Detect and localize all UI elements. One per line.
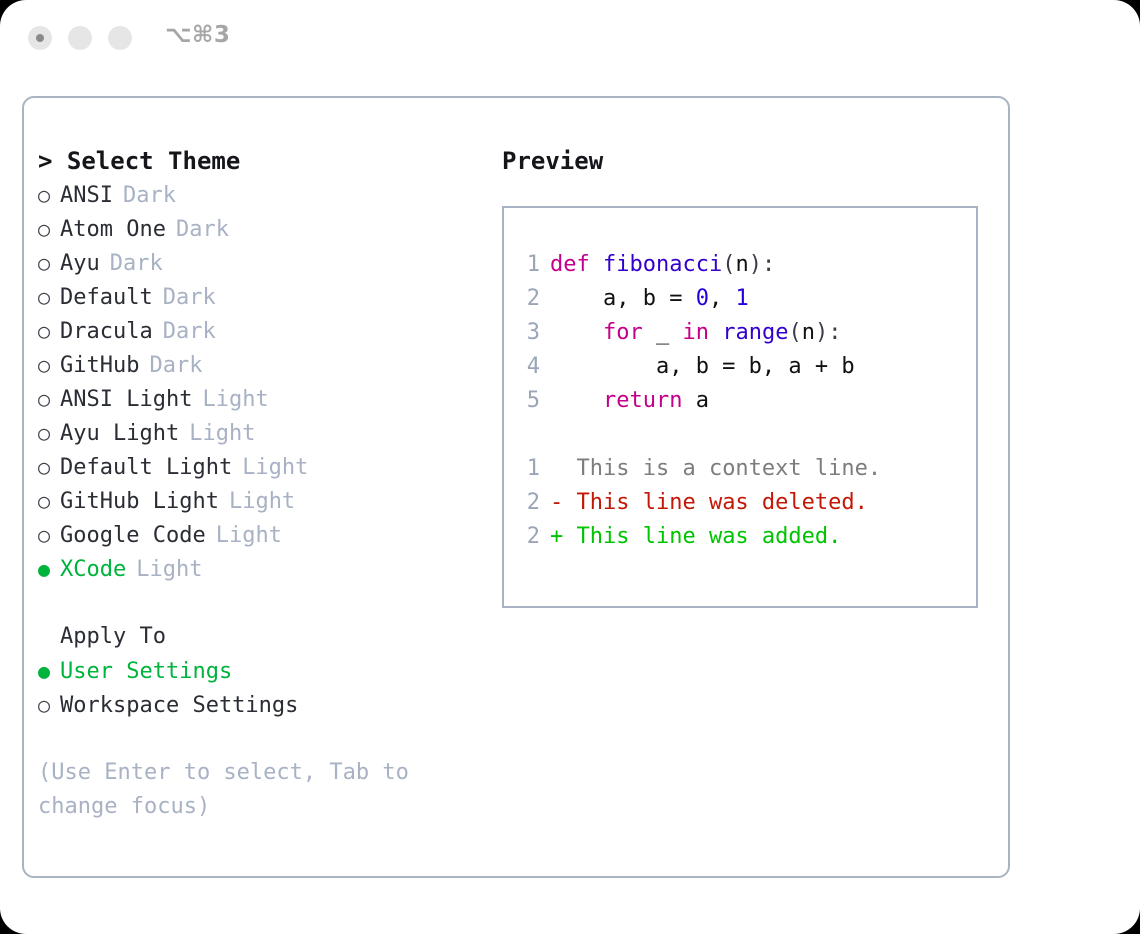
traffic-light-minimize[interactable] [68,26,92,50]
apply-to-option[interactable]: ○Workspace Settings [38,688,488,722]
code-line-number: 2 [504,282,550,316]
code-line: 5 return a [504,384,976,418]
theme-variant-tag: Light [216,519,282,553]
theme-name: Ayu [60,247,100,281]
preview-column: Preview 1def fibonacci(n):2 a, b = 0, 13… [502,144,1002,608]
code-token: a, b = [550,286,696,311]
diff-sample: 1 This is a context line.2- This line wa… [504,452,976,554]
radio-unselected-icon: ○ [38,348,60,382]
code-line: 4 a, b = b, a + b [504,350,976,384]
code-token: ( [788,320,801,345]
theme-selection-column: > Select Theme ○ANSIDark○Atom OneDark○Ay… [38,144,488,824]
radio-selected-icon: ● [38,654,60,688]
radio-unselected-icon: ○ [38,382,60,416]
code-token: 0 [696,286,709,311]
code-token: ( [722,252,735,277]
code-token: 1 [735,286,748,311]
code-token: n [802,320,815,345]
radio-unselected-icon: ○ [38,518,60,552]
apply-to-option[interactable]: ●User Settings [38,654,488,688]
preview-heading: Preview [502,144,1002,178]
code-line-content: a, b = 0, 1 [550,282,749,316]
theme-variant-tag: Dark [149,349,202,383]
apply-to-heading: Apply To [38,620,488,654]
diff-marker: - [550,486,563,520]
main-panel: > Select Theme ○ANSIDark○Atom OneDark○Ay… [22,96,1010,878]
theme-list-item[interactable]: ○ANSIDark [38,178,488,212]
radio-selected-icon: ● [38,552,60,586]
apply-to-label: User Settings [60,655,232,689]
theme-variant-tag: Light [136,553,202,587]
diff-text: This line was added. [563,520,841,554]
diff-line-number: 1 [504,452,550,486]
code-token: _ [643,320,683,345]
radio-unselected-icon: ○ [38,416,60,450]
keyboard-hint-text: (Use Enter to select, Tab to change focu… [38,756,458,824]
theme-name: Dracula [60,315,153,349]
theme-variant-tag: Light [202,383,268,417]
theme-name: XCode [60,553,126,587]
theme-list-item[interactable]: ○Default LightLight [38,450,488,484]
theme-list-item[interactable]: ○AyuDark [38,246,488,280]
code-token: ): [815,320,842,345]
radio-unselected-icon: ○ [38,484,60,518]
radio-unselected-icon: ○ [38,178,60,212]
radio-unselected-icon: ○ [38,450,60,484]
code-line: 1def fibonacci(n): [504,248,976,282]
code-sample: 1def fibonacci(n):2 a, b = 0, 13 for _ i… [504,248,976,418]
radio-unselected-icon: ○ [38,280,60,314]
code-line-number: 3 [504,316,550,350]
code-line-content: a, b = b, a + b [550,350,855,384]
theme-name: GitHub Light [60,485,219,519]
theme-list-item[interactable]: ○GitHubDark [38,348,488,382]
theme-variant-tag: Light [229,485,295,519]
code-token [550,320,603,345]
code-token: def [550,252,603,277]
theme-name: Default [60,281,153,315]
theme-name: Atom One [60,213,166,247]
code-token: n [735,252,748,277]
code-token: , [709,286,736,311]
code-token: return [603,388,682,413]
code-line-content: for _ in range(n): [550,316,841,350]
code-token: a [682,388,709,413]
diff-line: 2- This line was deleted. [504,486,976,520]
code-line-number: 4 [504,350,550,384]
theme-name: ANSI [60,179,113,213]
code-token [550,388,603,413]
theme-variant-tag: Light [242,451,308,485]
theme-name: Ayu Light [60,417,179,451]
diff-marker [550,452,563,486]
app-window: ⌥⌘3 > Select Theme ○ANSIDark○Atom OneDar… [0,0,1140,934]
apply-to-label: Workspace Settings [60,689,298,723]
code-token: for [603,320,643,345]
theme-variant-tag: Dark [163,281,216,315]
title-bar: ⌥⌘3 [0,0,1140,78]
diff-line: 2+ This line was added. [504,520,976,554]
code-token: in [682,320,709,345]
diff-line: 1 This is a context line. [504,452,976,486]
radio-unselected-icon: ○ [38,314,60,348]
radio-unselected-icon: ○ [38,212,60,246]
theme-name: Default Light [60,451,232,485]
code-token: a, b = b, a + b [550,354,855,379]
apply-to-list: ●User Settings○Workspace Settings [38,654,488,722]
radio-unselected-icon: ○ [38,246,60,280]
diff-line-number: 2 [504,486,550,520]
theme-list-item[interactable]: ○Google CodeLight [38,518,488,552]
code-line-content: def fibonacci(n): [550,248,775,282]
theme-variant-tag: Dark [110,247,163,281]
code-token: fibonacci [603,252,722,277]
traffic-light-close[interactable] [28,26,52,50]
theme-list-item[interactable]: ○Ayu LightLight [38,416,488,450]
diff-text: This is a context line. [563,452,881,486]
radio-unselected-icon: ○ [38,688,60,722]
theme-list-item[interactable]: ○DraculaDark [38,314,488,348]
diff-text: This line was deleted. [563,486,868,520]
theme-list-item[interactable]: ○ANSI LightLight [38,382,488,416]
code-line-number: 1 [504,248,550,282]
code-line-number: 5 [504,384,550,418]
theme-name: GitHub [60,349,139,383]
section-spacer [38,586,488,620]
theme-list-item[interactable]: ○DefaultDark [38,280,488,314]
code-token: range [722,320,788,345]
diff-marker: + [550,520,563,554]
theme-variant-tag: Dark [163,315,216,349]
preview-box: 1def fibonacci(n):2 a, b = 0, 13 for _ i… [502,206,978,608]
code-line: 2 a, b = 0, 1 [504,282,976,316]
theme-list-item[interactable]: ●XCodeLight [38,552,488,586]
preview-gap [504,418,976,452]
window-controls [28,26,132,50]
keyboard-shortcut-label: ⌥⌘3 [165,22,230,48]
theme-list: ○ANSIDark○Atom OneDark○AyuDark○DefaultDa… [38,178,488,586]
code-line-content: return a [550,384,709,418]
theme-list-item[interactable]: ○Atom OneDark [38,212,488,246]
code-token [709,320,722,345]
code-line: 3 for _ in range(n): [504,316,976,350]
theme-variant-tag: Dark [176,213,229,247]
code-token: ): [749,252,776,277]
theme-name: ANSI Light [60,383,192,417]
theme-name: Google Code [60,519,206,553]
traffic-light-maximize[interactable] [108,26,132,50]
select-theme-heading: > Select Theme [38,144,488,178]
theme-variant-tag: Light [189,417,255,451]
diff-line-number: 2 [504,520,550,554]
theme-variant-tag: Dark [123,179,176,213]
theme-list-item[interactable]: ○GitHub LightLight [38,484,488,518]
